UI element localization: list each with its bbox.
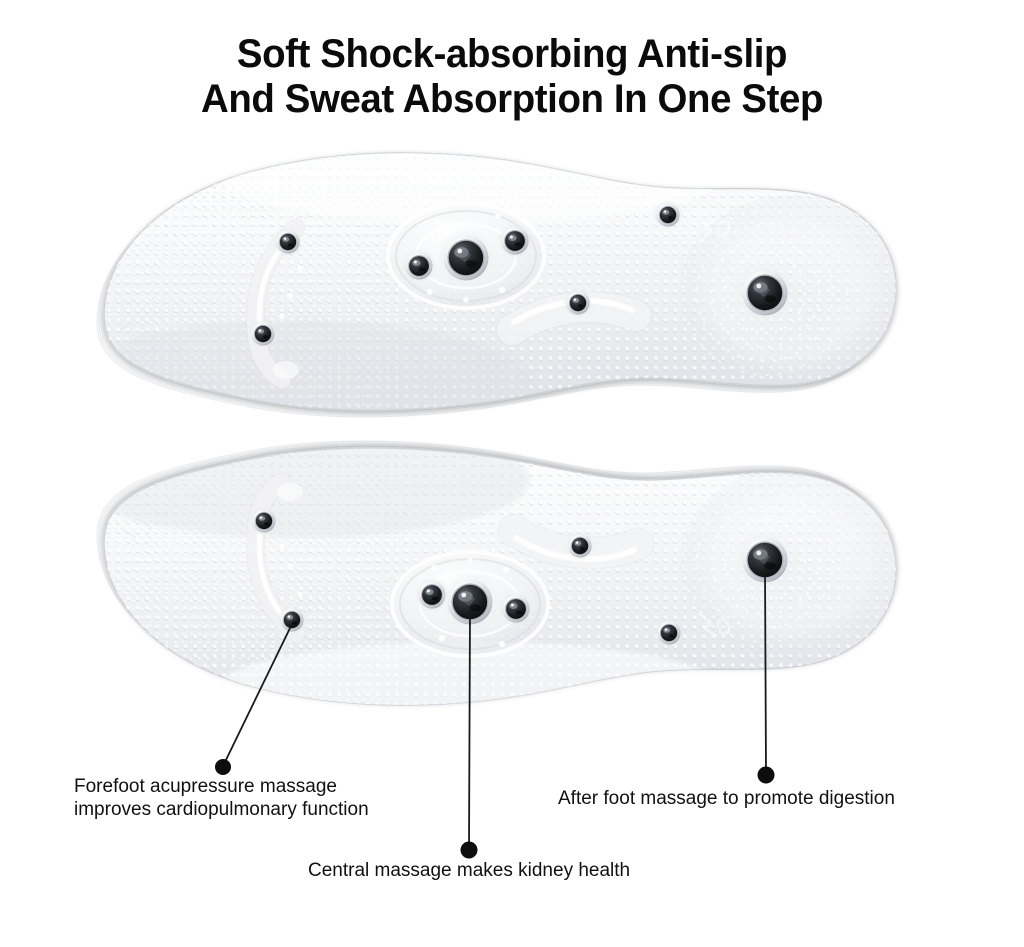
callout-central-massage: Central massage makes kidney health <box>308 859 630 882</box>
stud-central-left <box>416 579 448 611</box>
leader-dot-heel <box>758 767 775 784</box>
infographic-canvas: Soft Shock-absorbing Anti-slip And Sweat… <box>0 0 1024 947</box>
callout-after-foot-massage: After foot massage to promote digestion <box>558 787 895 810</box>
stud-outer-lower <box>656 620 683 647</box>
leader-dot-central <box>461 842 478 859</box>
callout-central-line-1: Central massage makes kidney health <box>308 859 630 882</box>
stud-midfoot-ridge <box>565 290 592 317</box>
callout-forefoot-line-2: improves cardiopulmonary function <box>74 798 369 821</box>
insole-top <box>70 132 904 440</box>
stud-central-right <box>500 593 532 625</box>
stud-central-right <box>499 225 531 257</box>
callout-heel-line-1: After foot massage to promote digestion <box>558 787 895 810</box>
stud-forefoot-upper <box>275 229 302 256</box>
stud-midfoot-ridge <box>567 533 594 560</box>
callout-forefoot-acupressure: Forefoot acupressure massage improves ca… <box>74 775 369 821</box>
insole-bottom <box>70 422 904 730</box>
stud-outer-upper <box>655 202 682 229</box>
stud-central-left <box>403 250 435 282</box>
leader-dot-forefoot <box>215 759 231 775</box>
leader-line-heel <box>765 568 766 772</box>
stud-forefoot-lower <box>250 321 277 348</box>
stud-central-main <box>439 231 493 285</box>
stud-heel-large <box>738 266 792 320</box>
callout-forefoot-line-1: Forefoot acupressure massage <box>74 775 369 798</box>
stud-forefoot-upper <box>251 508 278 535</box>
leader-line-central <box>469 610 470 847</box>
stud-forefoot-lower <box>279 607 306 634</box>
